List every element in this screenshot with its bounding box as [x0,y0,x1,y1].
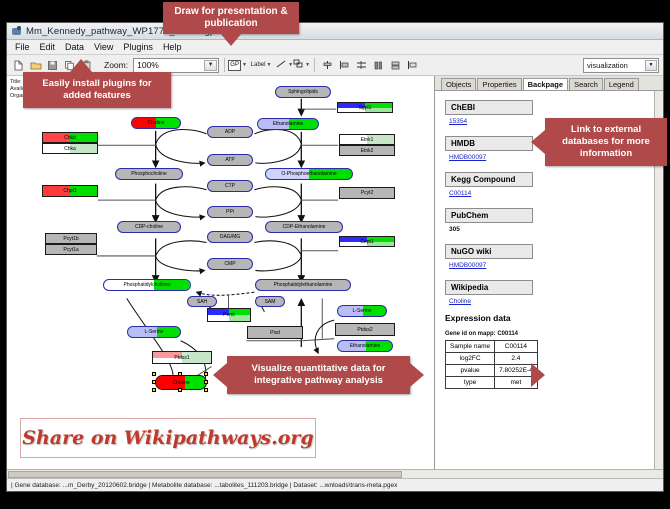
node-label: CDP-Ethanolamine [283,224,326,230]
node-sam[interactable]: SAM [255,296,285,307]
cell-key: log2FC [446,353,495,365]
node-label: Phosphatidylcholines [124,282,171,288]
node-label: Choline [173,380,190,386]
node-ctp[interactable]: CTP [207,180,253,192]
stack-icon[interactable] [388,58,403,73]
shape-tool[interactable]: ▼ [294,58,309,73]
status-bar: | Gene database: ...m_Derby_20120602.bri… [7,478,663,491]
visualization-value: visualization [587,61,628,70]
open-folder-icon[interactable] [28,58,43,73]
node-atp[interactable]: ATP [207,154,253,166]
size-icon[interactable] [371,58,386,73]
db-header-chebi: ChEBI [445,100,533,115]
table-row: log2FC 2.4 [446,353,538,365]
callout-text: Easily install plugins for added feature… [29,78,165,102]
db-header-kegg-compound: Kegg Compound [445,172,533,187]
zoom-label: Zoom: [104,60,128,70]
chevron-down-icon[interactable]: ▼ [645,60,657,71]
tab-search[interactable]: Search [569,78,603,90]
callout-plugins-arrow [70,59,92,72]
node-label: Etnk1 [361,137,374,143]
node-dagmag[interactable]: DAG/MG [207,231,253,243]
node-label: Phosphocholine [131,171,167,177]
selection-handle[interactable] [152,372,156,376]
node-ptdss2[interactable]: Ptdss2 [335,323,395,336]
db-link-wikipedia[interactable]: Choline [449,298,663,305]
tab-properties[interactable]: Properties [477,78,521,90]
node-chkb[interactable]: Chkb [42,132,98,143]
node-label: CTP [225,183,235,189]
selection-handle[interactable] [152,388,156,392]
menu-edit[interactable]: Edit [35,41,61,53]
node-label: Pcyt1b [63,236,78,242]
node-phosphatidylethanolamine[interactable]: Phosphatidylethanolamine [255,279,351,291]
callout-text: Draw for presentation & publication [169,6,293,30]
node-label: DAG/MG [220,234,240,240]
node-o-phosphoethanolamine[interactable]: O-Phosphoethanolamine [265,168,353,180]
visualization-select[interactable]: visualization ▼ [583,58,659,73]
label-tool[interactable]: Label ▼ [247,58,275,73]
selection-handle[interactable] [152,380,156,384]
order-icon[interactable] [405,58,420,73]
node-ptdss1[interactable]: Ptdss1 [152,351,212,364]
callout-draw: Draw for presentation & publication [163,2,299,34]
tab-legend[interactable]: Legend [604,78,639,90]
node-label: PPi [226,209,234,215]
share-banner: Share on Wikipathways.org [20,418,316,458]
side-panel-tabs: Objects Properties Backpage Search Legen… [435,76,663,91]
node-etnk1[interactable]: Etnk1 [339,134,395,145]
node-label: L-Serine [145,329,164,335]
scrollbar-thumb[interactable] [8,471,402,478]
app-icon [11,26,22,37]
cell-key: Sample name [446,341,495,353]
selection-handle[interactable] [204,388,208,392]
datanode-icon: GP [228,60,241,71]
chevron-down-icon[interactable]: ▼ [305,62,310,68]
menu-view[interactable]: View [89,41,118,53]
menu-data[interactable]: Data [60,41,89,53]
align-center-icon[interactable] [320,58,335,73]
node-label: Pemt [223,312,235,318]
node-adp[interactable]: ADP [207,126,253,138]
menu-plugins[interactable]: Plugins [118,41,158,53]
cell-key: type [446,377,495,389]
expression-data-title: Expression data [445,313,663,323]
callout-text: Link to external databases for more info… [550,124,662,160]
node-label: L-Serine [353,308,372,314]
selection-handle[interactable] [178,372,182,376]
node-chpt1[interactable]: Chpt1 [42,185,98,197]
align-left-icon[interactable] [337,58,352,73]
node-label: ADP [225,129,235,135]
node-label: Cept1 [360,239,373,245]
status-text: | Gene database: ...m_Derby_20120602.bri… [11,482,397,489]
node-sah[interactable]: SAH [187,296,217,307]
db-link-kegg-compound[interactable]: C00114 [449,190,663,197]
node-label: Sgpl1 [359,105,372,111]
node-pcyt2[interactable]: Pcyt2 [339,187,395,199]
zoom-select[interactable]: 100% ▼ [133,58,219,73]
callout-visualize: Visualize quantitative data for integrat… [227,356,410,394]
node-label: Pcyt1a [63,247,78,253]
table-row: pvalue 7.80252E-4 [446,365,538,377]
chevron-down-icon[interactable]: ▼ [266,62,271,68]
node-cept1[interactable]: Cept1 [339,236,395,247]
node-cmp[interactable]: CMP [207,258,253,270]
node-sgpl1[interactable]: Sgpl1 [337,102,393,113]
db-link-nugo-wiki[interactable]: HMDB00097 [449,262,663,269]
toolbar-separator [314,58,315,72]
shape-icon [293,59,304,72]
callout-visualize-arrow-right [410,363,424,387]
selection-handle[interactable] [204,380,208,384]
tab-objects[interactable]: Objects [441,78,476,90]
node-ethanolamine-bottom[interactable]: Ethanolamine [337,340,393,352]
callout-draw-arrow [220,33,242,46]
node-label: Ethanolamine [273,121,304,127]
node-ppi[interactable]: PPi [207,206,253,218]
zoom-value: 100% [137,60,159,70]
distribute-icon[interactable] [354,58,369,73]
canvas-horizontal-scrollbar[interactable] [7,469,663,478]
node-pcyt1a[interactable]: Pcyt1a [45,244,97,255]
node-pemt[interactable]: Pemt [207,308,251,322]
node-label: Ptdss1 [174,355,189,361]
label-tool-text: Label [251,62,266,68]
selection-handle[interactable] [204,372,208,376]
node-label: ATP [225,157,234,163]
node-label: Pcyt2 [361,190,374,196]
table-row: type met [446,377,538,389]
node-l-serine-left[interactable]: L-Serine [127,326,181,338]
node-label: Ethanolamine [350,343,381,349]
node-label: Chkb [64,135,76,141]
gene-id-on-mapp: Gene id on mapp: C00114 [445,331,663,337]
selection-handle[interactable] [178,388,182,392]
db-value-pubchem: 305 [449,226,663,233]
pathway-canvas[interactable]: Title: Availa Organ [7,76,435,469]
line-tool[interactable]: ▼ [277,58,292,73]
callout-visualize-arrow-left [213,363,227,387]
datanode-tool[interactable]: GP ▼ [230,58,245,73]
new-file-icon[interactable] [11,58,26,73]
db-header-wikipedia: Wikipedia [445,280,533,295]
node-pcyt1b[interactable]: Pcyt1b [45,233,97,244]
node-ethanolamine-top[interactable]: Ethanolamine [257,118,319,130]
node-label: SAH [197,299,207,305]
callout-visualize-arrow-right-2 [531,363,545,387]
tab-backpage[interactable]: Backpage [523,78,568,90]
table-row: Sample name C00114 [446,341,538,353]
callout-plugins: Easily install plugins for added feature… [23,72,171,108]
node-label: Choline [148,120,165,126]
chevron-down-icon[interactable]: ▼ [204,60,217,71]
node-phosphatidylcholines[interactable]: Phosphatidylcholines [103,279,191,291]
line-icon [276,59,287,72]
node-pisd[interactable]: Pisd [247,326,303,339]
node-l-serine-right[interactable]: L-Serine [337,305,387,317]
node-sphingolipids[interactable]: Sphingolipids [275,86,331,98]
node-label: Chka [64,146,76,152]
node-etnk2[interactable]: Etnk2 [339,145,395,156]
node-label: SAM [265,299,276,305]
node-cdp-choline[interactable]: CDP-choline [117,221,181,233]
node-cdp-ethanolamine[interactable]: CDP-Ethanolamine [265,221,343,233]
share-text: Share on Wikipathways.org [22,427,313,449]
callout-text: Visualize quantitative data for integrat… [233,363,404,387]
menu-file[interactable]: File [10,41,35,53]
node-label: Ptdss2 [357,327,372,333]
node-chka[interactable]: Chka [42,143,98,154]
node-choline-top[interactable]: Choline [131,117,181,129]
node-label: O-Phosphoethanolamine [281,171,336,177]
db-header-pubchem: PubChem [445,208,533,223]
cell-value: C00114 [495,341,538,353]
callout-links-arrow [531,130,545,154]
node-label: Etnk2 [361,148,374,154]
db-header-hmdb: HMDB [445,136,533,151]
menu-bar: File Edit Data View Plugins Help [7,40,663,55]
save-icon[interactable] [45,58,60,73]
title-bar: Mm_Kennedy_pathway_WP1771_45176.gpml [7,23,663,40]
db-header-nugo-wiki: NuGO wiki [445,244,533,259]
callout-links: Link to external databases for more info… [545,118,667,166]
node-label: Chpt1 [63,188,76,194]
node-label: Sphingolipids [288,89,318,95]
node-label: Phosphatidylethanolamine [274,282,333,288]
cell-key: pvalue [446,365,495,377]
node-label: CDP-choline [135,224,163,230]
toolbar-separator [224,58,225,72]
node-phosphocholine[interactable]: Phosphocholine [115,168,183,180]
node-label: CMP [224,261,235,267]
menu-help[interactable]: Help [158,41,187,53]
node-label: Pisd [270,330,280,336]
expression-table: Sample name C00114 log2FC 2.4 pvalue 7.8… [445,340,538,389]
